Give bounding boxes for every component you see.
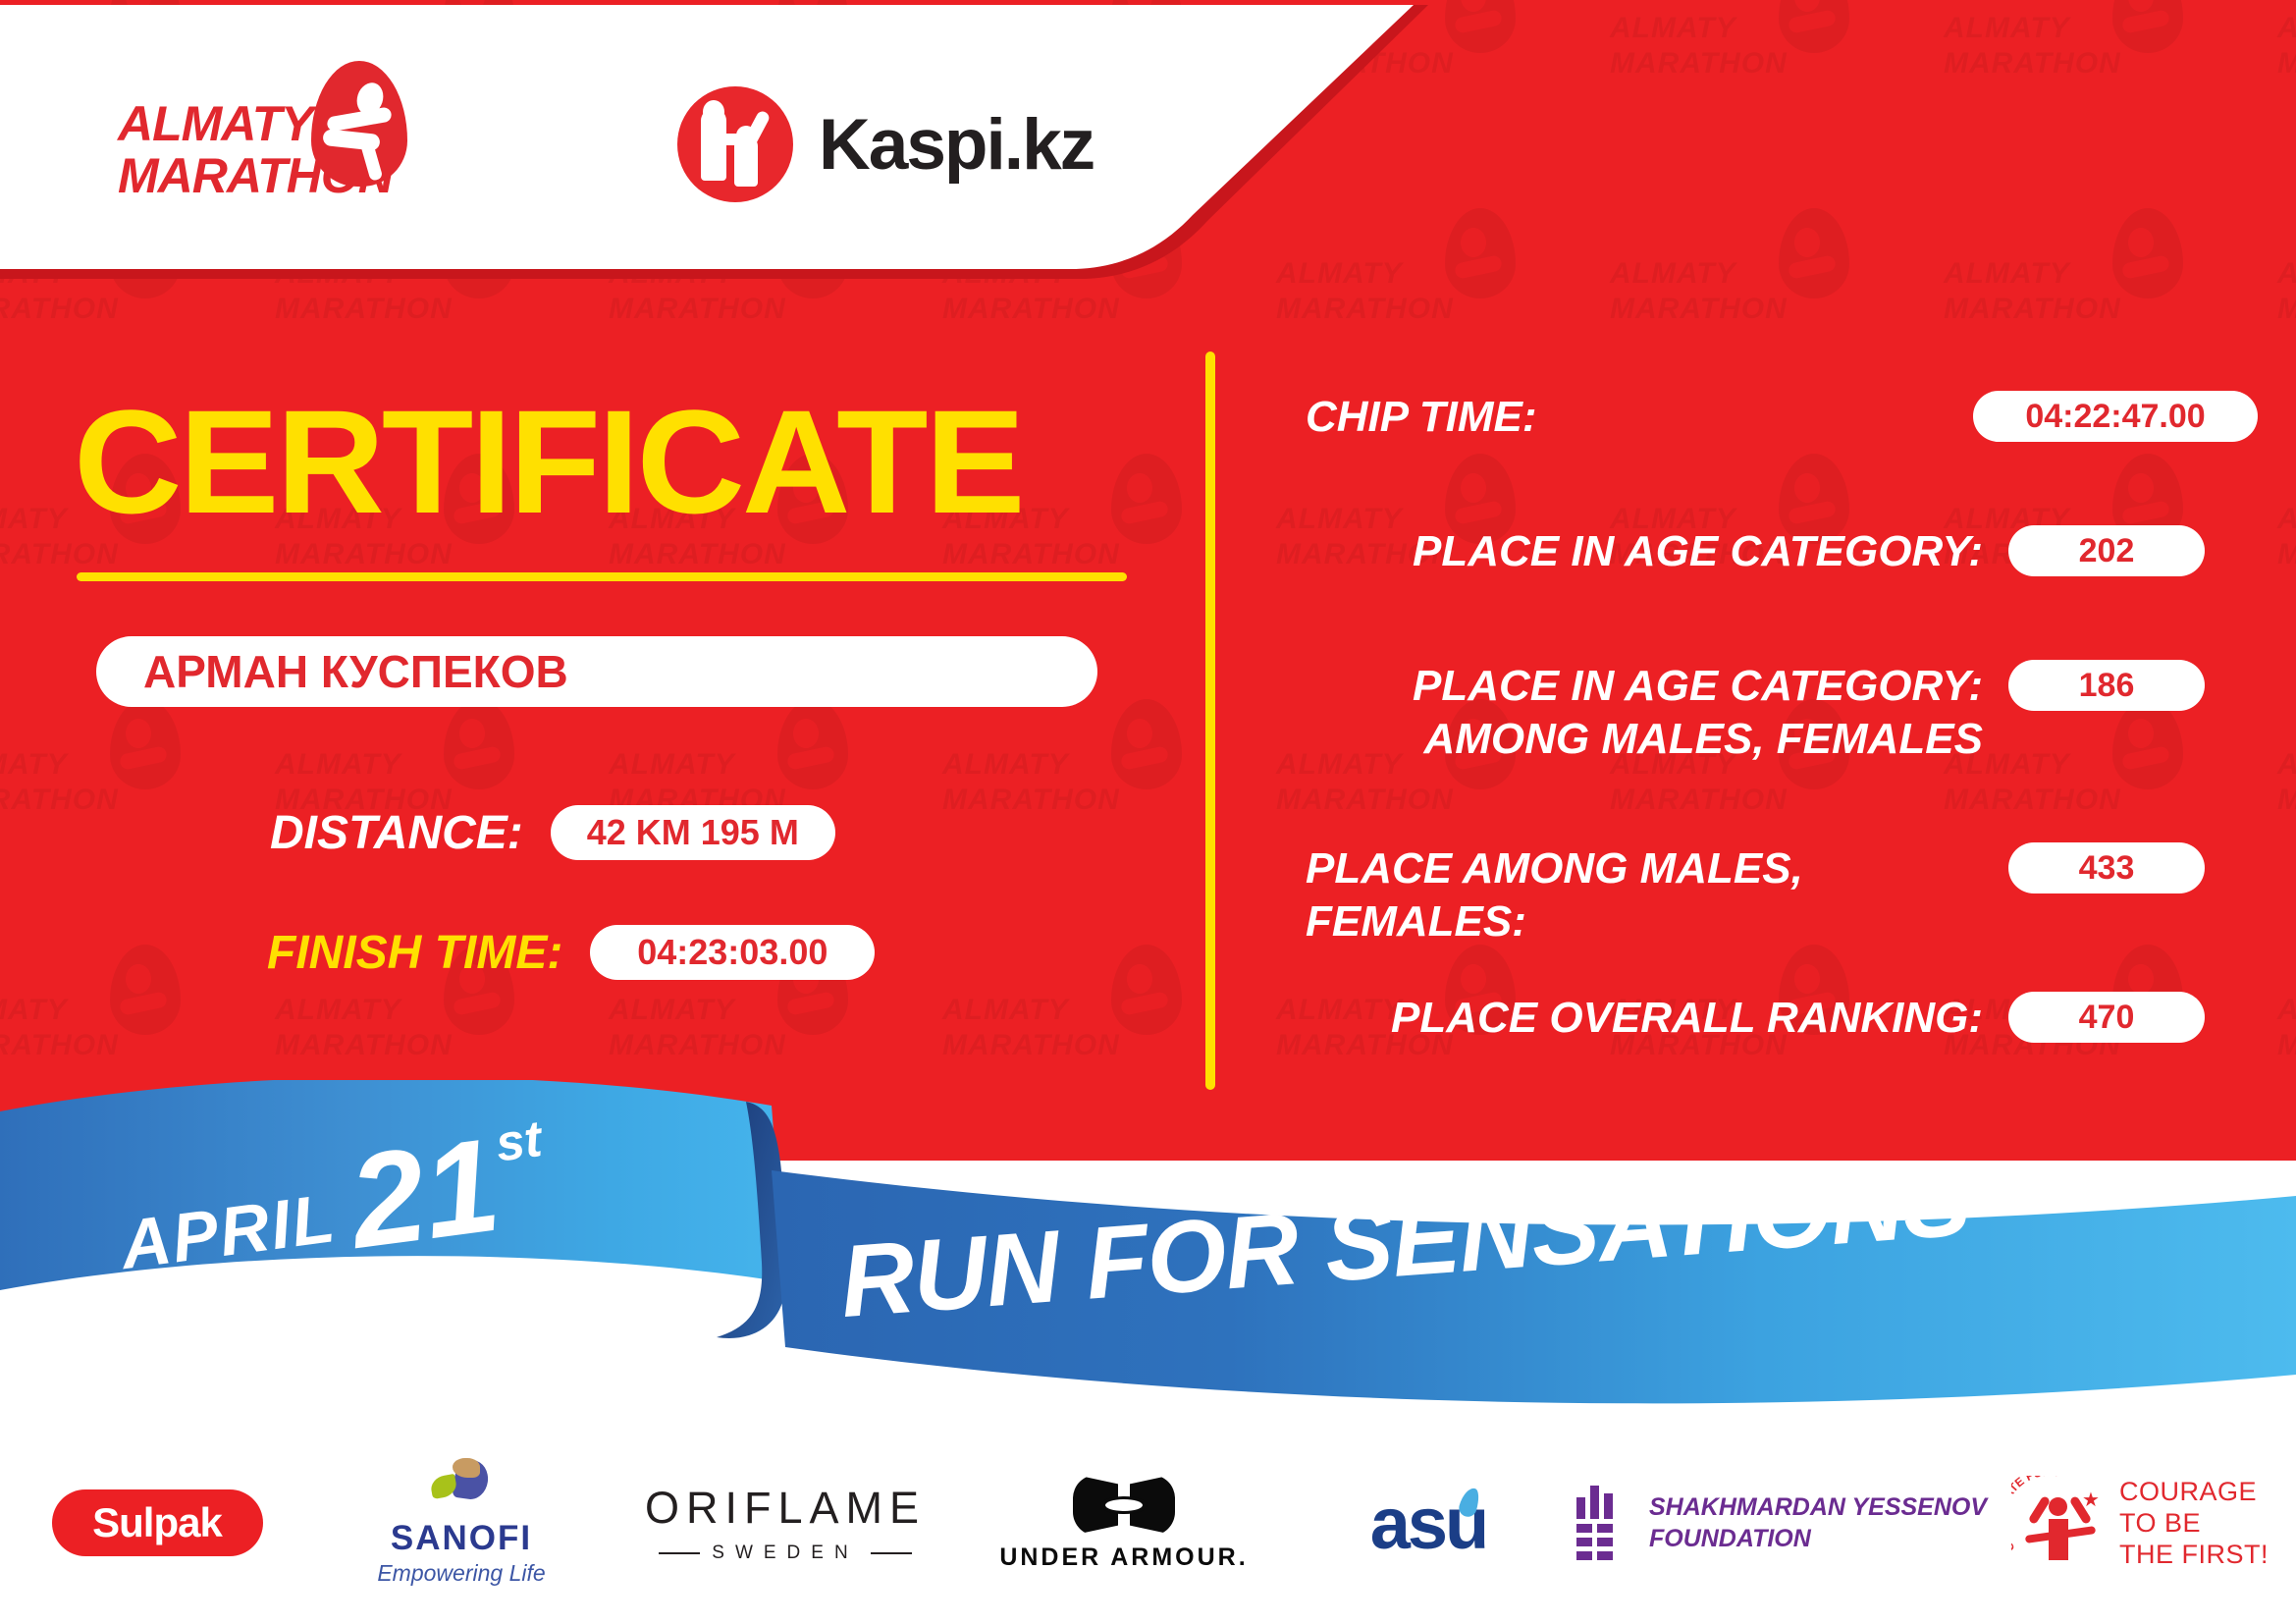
kaspi-wordmark: Kaspi.kz (819, 104, 1094, 186)
column-divider (1205, 352, 1215, 1090)
stat-label: CHIP TIME: (1306, 391, 1895, 444)
sponsor-asu: asu (1286, 1439, 1571, 1606)
sanofi-logo (429, 1460, 494, 1513)
asu-logo: asu (1370, 1482, 1487, 1565)
oriflame-name: ORIFLAME (645, 1483, 926, 1534)
stat-value: 433 (2008, 842, 2205, 893)
distance-label: DISTANCE: (270, 806, 523, 860)
stat-chip-time: CHIP TIME: 04:22:47.00 (1306, 391, 2258, 444)
stat-label: PLACE AMONG MALES, FEMALES: (1306, 842, 1983, 948)
stat-place-among-gender: PLACE AMONG MALES, FEMALES: 433 (1306, 842, 2205, 948)
finish-time-label: FINISH TIME: (267, 926, 562, 980)
distance-row: DISTANCE: 42 KM 195 M (270, 805, 835, 860)
stat-value: 186 (2008, 660, 2205, 711)
sponsor-strip: Sulpak SANOFI Empowering Life ORIFLAME S… (0, 1422, 2296, 1624)
yessenov-foundation-logo (1576, 1486, 1628, 1560)
athlete-name-value: АРМАН КУСПЕКОВ (143, 645, 568, 698)
certificate-canvas: ALMATYMARATHONALMATYMARATHONALMATYMARATH… (0, 0, 2296, 1624)
sponsor-sulpak: Sulpak (0, 1439, 314, 1606)
under-armour-logo (1073, 1475, 1175, 1536)
sponsor-sanofi: SANOFI Empowering Life (314, 1439, 609, 1606)
stat-place-overall: PLACE OVERALL RANKING: 470 (1306, 992, 2205, 1045)
stat-place-age-category: PLACE IN AGE CATEGORY: 202 (1306, 525, 2205, 578)
stat-place-age-category-gender: PLACE IN AGE CATEGORY: AMONG MALES, FEMA… (1306, 660, 2205, 766)
sanofi-tagline: Empowering Life (377, 1560, 545, 1587)
watermark-tile: ALMATYMARATHON (2277, 697, 2296, 844)
page-title: CERTIFICATE (74, 388, 1022, 535)
oriflame-sub: SWEDEN (712, 1543, 858, 1564)
sponsor-yessenov: SHAKHMARDAN YESSENOV FOUNDATION (1571, 1439, 1993, 1606)
sulpak-logo: Sulpak (52, 1489, 263, 1556)
sponsor-under-armour: UNDER ARMOUR. (962, 1439, 1286, 1606)
stat-label: PLACE IN AGE CATEGORY: (1306, 525, 1983, 578)
almaty-marathon-logo: ALMATY MARATHON (118, 61, 442, 208)
distance-value: 42 KM 195 M (551, 805, 835, 860)
finish-time-row: FINISH TIME: 04:23:03.00 (267, 925, 875, 980)
watermark-tile: ALMATYMARATHON (0, 943, 187, 1090)
finish-time-value: 04:23:03.00 (590, 925, 875, 980)
watermark-tile: ALMATYMARATHON (942, 943, 1188, 1090)
courage-fund-text: COURAGE TO BE THE FIRST! (2119, 1476, 2269, 1570)
kaspi-family-icon (677, 86, 793, 202)
stat-value: 202 (2008, 525, 2205, 576)
runner-drop-icon (311, 61, 407, 187)
title-underline (77, 572, 1127, 581)
kaspi-logo: Kaspi.kz (677, 86, 1094, 202)
stat-value: 04:22:47.00 (1973, 391, 2258, 442)
stat-label: PLACE OVERALL RANKING: (1306, 992, 1983, 1045)
sanofi-name: SANOFI (377, 1519, 545, 1558)
yessenov-name: SHAKHMARDAN YESSENOV FOUNDATION (1649, 1491, 1987, 1554)
oriflame-logo: ORIFLAME SWEDEN (645, 1483, 926, 1564)
sponsor-oriflame: ORIFLAME SWEDEN (609, 1439, 962, 1606)
event-day-ordinal: st (493, 1110, 546, 1174)
event-day: 21 (345, 1132, 505, 1254)
sponsor-courage-fund: CORPORATE FUND ★ COURAGE TO BE THE FIRST… (1993, 1439, 2287, 1606)
under-armour-name: UNDER ARMOUR. (999, 1543, 1248, 1572)
athlete-name-field: АРМАН КУСПЕКОВ (96, 636, 1097, 707)
watermark-tile: ALMATYMARATHON (2277, 452, 2296, 599)
stat-value: 470 (2008, 992, 2205, 1043)
courage-fund-logo: CORPORATE FUND ★ (2011, 1476, 2106, 1570)
stat-label: PLACE IN AGE CATEGORY: AMONG MALES, FEMA… (1306, 660, 1983, 766)
watermark-tile: ALMATYMARATHON (0, 697, 187, 844)
watermark-tile: ALMATYMARATHON (2277, 943, 2296, 1090)
watermark-tile: ALMATYMARATHON (942, 697, 1188, 844)
